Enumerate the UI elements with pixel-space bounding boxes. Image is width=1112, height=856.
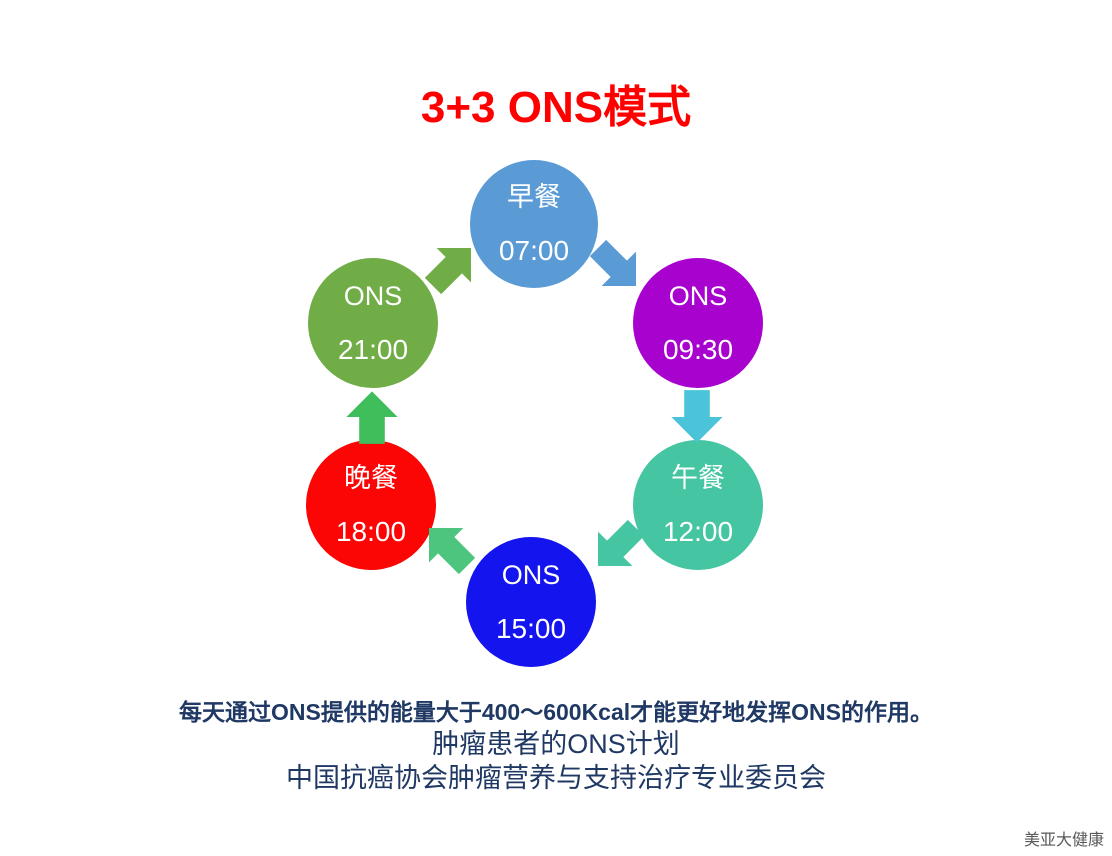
cycle-node-time: 18:00 — [336, 518, 406, 546]
cycle-node-time: 12:00 — [663, 518, 733, 546]
cycle-node-label: ONS — [669, 283, 728, 310]
cycle-node-ons-1500[interactable]: ONS 15:00 — [466, 537, 596, 667]
cycle-node-breakfast[interactable]: 早餐 07:00 — [470, 160, 598, 288]
cycle-node-lunch[interactable]: 午餐 12:00 — [633, 440, 763, 570]
cycle-node-ons-2100[interactable]: ONS 21:00 — [308, 258, 438, 388]
watermark-text: 美亚大健康 — [1024, 826, 1104, 850]
caption-line-2: 肿瘤患者的ONS计划 — [0, 727, 1112, 762]
arrow-up-right-icon — [420, 235, 484, 299]
cycle-node-ons-0930[interactable]: ONS 09:30 — [633, 258, 763, 388]
arrow-down-right-icon — [585, 235, 649, 299]
caption-block: 每天通过ONS提供的能量大于400～600Kcal才能更好地发挥ONS的作用。 … — [0, 698, 1112, 796]
arrow-up-left-icon — [416, 515, 480, 579]
cycle-node-time: 07:00 — [499, 237, 569, 265]
cycle-node-time: 15:00 — [496, 615, 566, 643]
cycle-node-label: ONS — [344, 283, 403, 310]
arrow-up-icon — [340, 385, 404, 449]
slide-canvas: 3+3 ONS模式 早餐 07:00 ONS 09:30 午餐 12:00 ON… — [0, 0, 1112, 856]
cycle-node-label: 午餐 — [671, 465, 725, 492]
cycle-node-label: 晚餐 — [344, 465, 398, 492]
arrow-down-left-icon — [585, 515, 649, 579]
cycle-node-label: ONS — [502, 562, 561, 589]
caption-line-3: 中国抗癌协会肿瘤营养与支持治疗专业委员会 — [0, 761, 1112, 796]
cycle-node-time: 21:00 — [338, 336, 408, 364]
ons-cycle-diagram: 早餐 07:00 ONS 09:30 午餐 12:00 ONS 15:00 晚餐… — [280, 150, 800, 670]
page-title: 3+3 ONS模式 — [0, 84, 1112, 132]
arrow-down-icon — [665, 385, 729, 449]
caption-line-1: 每天通过ONS提供的能量大于400～600Kcal才能更好地发挥ONS的作用。 — [0, 698, 1112, 727]
cycle-node-label: 早餐 — [507, 184, 561, 211]
cycle-node-time: 09:30 — [663, 336, 733, 364]
